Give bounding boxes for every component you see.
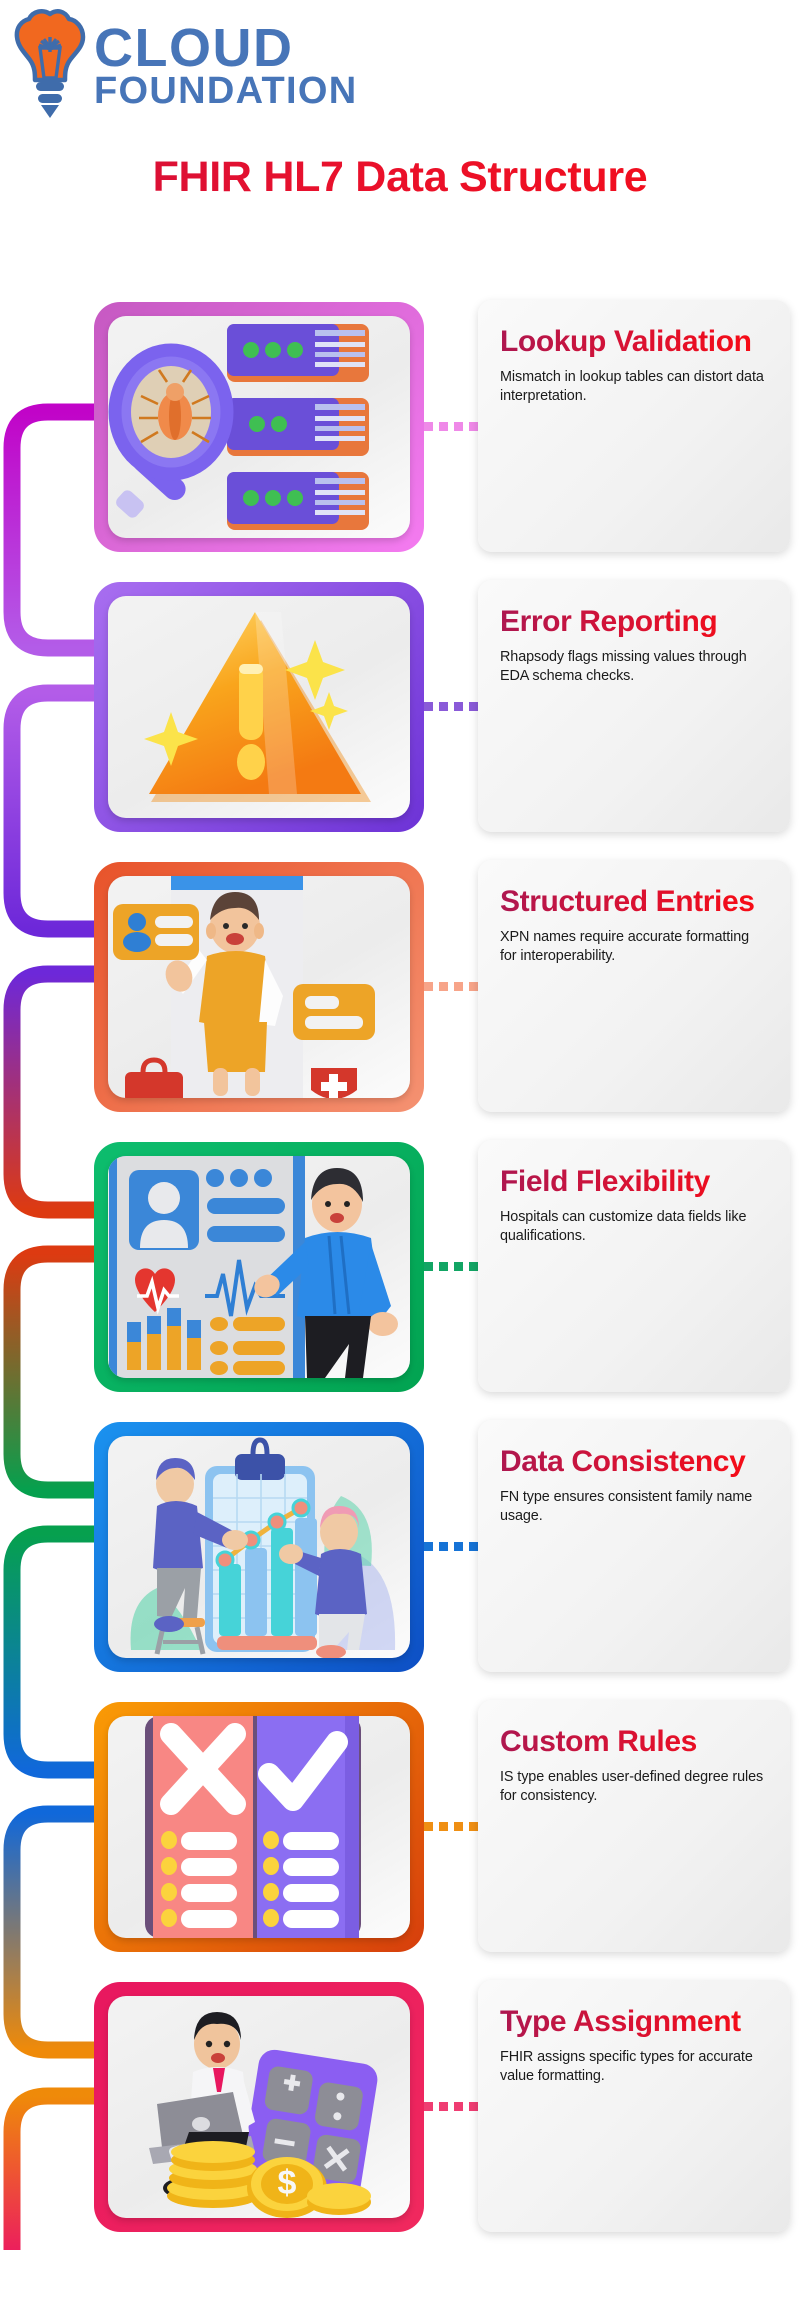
- list-item[interactable]: Error Reporting Rhapsody flags missing v…: [0, 572, 800, 822]
- brand-line-2: FOUNDATION: [94, 74, 358, 110]
- card-title: Custom Rules: [500, 1726, 768, 1758]
- cross-check-checklist-icon: [108, 1716, 410, 1938]
- list-item[interactable]: Lookup Validation Mismatch in lookup tab…: [0, 292, 800, 542]
- dotted-connector: [424, 982, 478, 991]
- warning-triangle-sparkles-icon: [108, 596, 410, 818]
- list-item[interactable]: $ Type Assignment FHIR assigns specific …: [0, 1972, 800, 2222]
- card-body: Rhapsody flags missing values through ED…: [500, 648, 768, 686]
- brand-wordmark: CLOUD FOUNDATION: [94, 19, 358, 109]
- patient-dashboard-vitals-icon: [108, 1156, 410, 1378]
- illustration-frame: [94, 582, 424, 832]
- card-title: Data Consistency: [500, 1446, 768, 1478]
- card-title: Type Assignment: [500, 2006, 768, 2038]
- page-title: FHIR HL7 Data Structure: [0, 152, 800, 203]
- card-title: Lookup Validation: [500, 326, 768, 358]
- cloud-lightbulb-logo-icon: [14, 8, 86, 120]
- text-card[interactable]: Custom Rules IS type enables user-define…: [478, 1700, 790, 1952]
- text-card[interactable]: Field Flexibility Hospitals can customiz…: [478, 1140, 790, 1392]
- text-card[interactable]: Error Reporting Rhapsody flags missing v…: [478, 580, 790, 832]
- card-body: IS type enables user-defined degree rule…: [500, 1768, 768, 1806]
- illustration-frame: [94, 1422, 424, 1672]
- card-body: Mismatch in lookup tables can distort da…: [500, 368, 768, 406]
- card-body: XPN names require accurate formatting fo…: [500, 928, 768, 966]
- text-card[interactable]: Structured Entries XPN names require acc…: [478, 860, 790, 1112]
- svg-text:$: $: [278, 2164, 297, 2202]
- dotted-connector: [424, 2102, 478, 2111]
- person-laptop-calculator-coins-icon: $: [108, 1996, 410, 2218]
- brand-line-1: CLOUD: [94, 23, 358, 74]
- card-body: FHIR assigns specific types for accurate…: [500, 2048, 768, 2086]
- magnifier-bug-server-racks-icon: [108, 316, 410, 538]
- infographic-page: CLOUD FOUNDATION FHIR HL7 Data Structure: [0, 0, 800, 2298]
- dotted-connector: [424, 1822, 478, 1831]
- list-item[interactable]: Custom Rules IS type enables user-define…: [0, 1692, 800, 1942]
- card-body: Hospitals can customize data fields like…: [500, 1208, 768, 1246]
- dotted-connector: [424, 1542, 478, 1551]
- dotted-connector: [424, 702, 478, 711]
- text-card[interactable]: Lookup Validation Mismatch in lookup tab…: [478, 300, 790, 552]
- illustration-frame: [94, 302, 424, 552]
- text-card[interactable]: Data Consistency FN type ensures consist…: [478, 1420, 790, 1672]
- illustration-frame: [94, 1142, 424, 1392]
- list-item[interactable]: Field Flexibility Hospitals can customiz…: [0, 1132, 800, 1382]
- person-profile-card-icon: [108, 876, 410, 1098]
- card-body: FN type ensures consistent family name u…: [500, 1488, 768, 1526]
- illustration-frame: [94, 862, 424, 1112]
- card-title: Structured Entries: [500, 886, 768, 918]
- card-title: Field Flexibility: [500, 1166, 768, 1198]
- illustration-frame: [94, 1702, 424, 1952]
- illustration-frame: $: [94, 1982, 424, 2232]
- clipboard-bar-chart-team-icon: [108, 1436, 410, 1658]
- card-title: Error Reporting: [500, 606, 768, 638]
- list-item[interactable]: Structured Entries XPN names require acc…: [0, 852, 800, 1102]
- list-item[interactable]: Data Consistency FN type ensures consist…: [0, 1412, 800, 1662]
- dotted-connector: [424, 1262, 478, 1271]
- brand-logo: CLOUD FOUNDATION: [14, 8, 358, 120]
- text-card[interactable]: Type Assignment FHIR assigns specific ty…: [478, 1980, 790, 2232]
- dotted-connector: [424, 422, 478, 431]
